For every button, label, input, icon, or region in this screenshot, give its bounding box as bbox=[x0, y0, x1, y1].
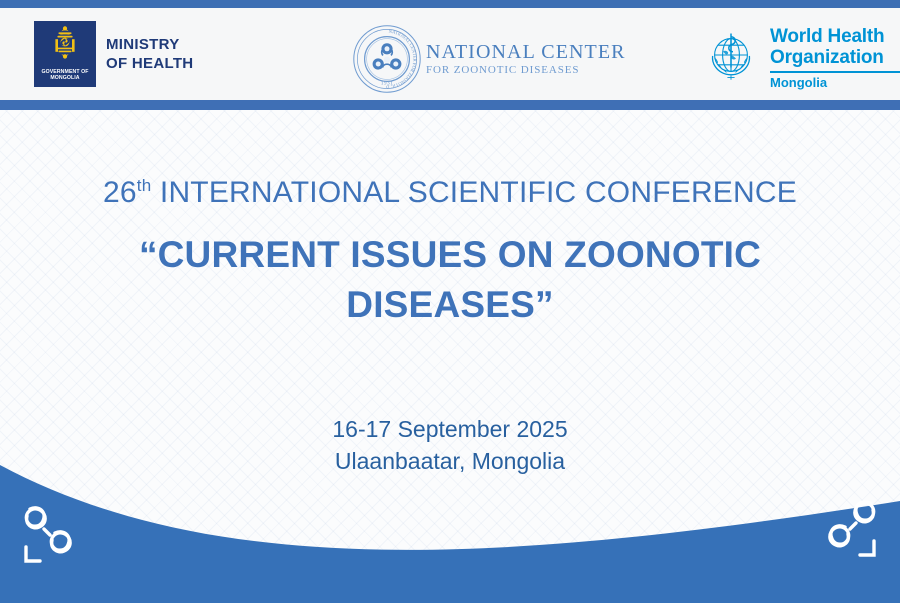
wave-shape bbox=[0, 465, 900, 603]
logo-row: GOVERNMENT OF MONGOLIA MINISTRY OF HEALT… bbox=[0, 8, 900, 100]
conference-theme-line2: DISEASES” bbox=[0, 280, 900, 330]
biohazard-seal-icon: 1931 NATIONAL CENTER FOR ZOONOTIC DISEAS… bbox=[352, 24, 422, 94]
footer-wave-graphic bbox=[0, 443, 900, 603]
triquetra-knot-icon-right bbox=[808, 493, 886, 565]
logo-national-center-zoonotic-diseases: 1931 NATIONAL CENTER FOR ZOONOTIC DISEAS… bbox=[352, 24, 626, 94]
conference-title-rest: INTERNATIONAL SCIENTIFIC CONFERENCE bbox=[151, 176, 797, 209]
ministry-emblem-text: GOVERNMENT OF MONGOLIA bbox=[34, 69, 96, 82]
top-accent-bar bbox=[0, 0, 900, 8]
triquetra-knot-icon-left bbox=[14, 499, 92, 571]
ministry-name-line1: MINISTRY bbox=[106, 35, 193, 54]
conference-date: 16-17 September 2025 bbox=[0, 413, 900, 445]
conference-theme-line1: “CURRENT ISSUES ON ZOONOTIC bbox=[0, 230, 900, 280]
soyombo-icon bbox=[52, 25, 78, 65]
footer-wave-band bbox=[0, 443, 900, 603]
who-divider bbox=[770, 71, 900, 73]
header-divider-bar bbox=[0, 100, 900, 110]
conference-ordinal: th bbox=[137, 176, 152, 195]
ministry-emblem-line1: GOVERNMENT OF bbox=[41, 69, 88, 75]
who-country-label: Mongolia bbox=[770, 75, 900, 90]
who-name: World Health Organization Mongolia bbox=[770, 26, 900, 90]
conference-number: 26 bbox=[103, 176, 137, 209]
nczd-name-line1: NATIONAL CENTER bbox=[426, 41, 626, 63]
ministry-name: MINISTRY OF HEALTH bbox=[106, 35, 193, 73]
ministry-emblem: GOVERNMENT OF MONGOLIA bbox=[34, 21, 96, 87]
ministry-emblem-line2: MONGOLIA bbox=[50, 75, 79, 81]
logo-ministry-of-health: GOVERNMENT OF MONGOLIA MINISTRY OF HEALT… bbox=[34, 21, 193, 87]
nczd-name: NATIONAL CENTER FOR ZOONOTIC DISEASES bbox=[426, 41, 626, 77]
conference-number-line: 26th INTERNATIONAL SCIENTIFIC CONFERENCE bbox=[0, 176, 900, 210]
logo-world-health-organization: World Health Organization Mongolia bbox=[700, 26, 900, 90]
who-name-line1: World Health bbox=[770, 26, 900, 47]
ministry-name-line2: OF HEALTH bbox=[106, 54, 193, 73]
nczd-name-line2: FOR ZOONOTIC DISEASES bbox=[426, 63, 626, 77]
who-name-line2: Organization bbox=[770, 47, 900, 68]
conference-title-slide: GOVERNMENT OF MONGOLIA MINISTRY OF HEALT… bbox=[0, 0, 900, 603]
who-emblem-icon bbox=[700, 27, 762, 89]
conference-theme: “CURRENT ISSUES ON ZOONOTIC DISEASES” bbox=[0, 230, 900, 330]
